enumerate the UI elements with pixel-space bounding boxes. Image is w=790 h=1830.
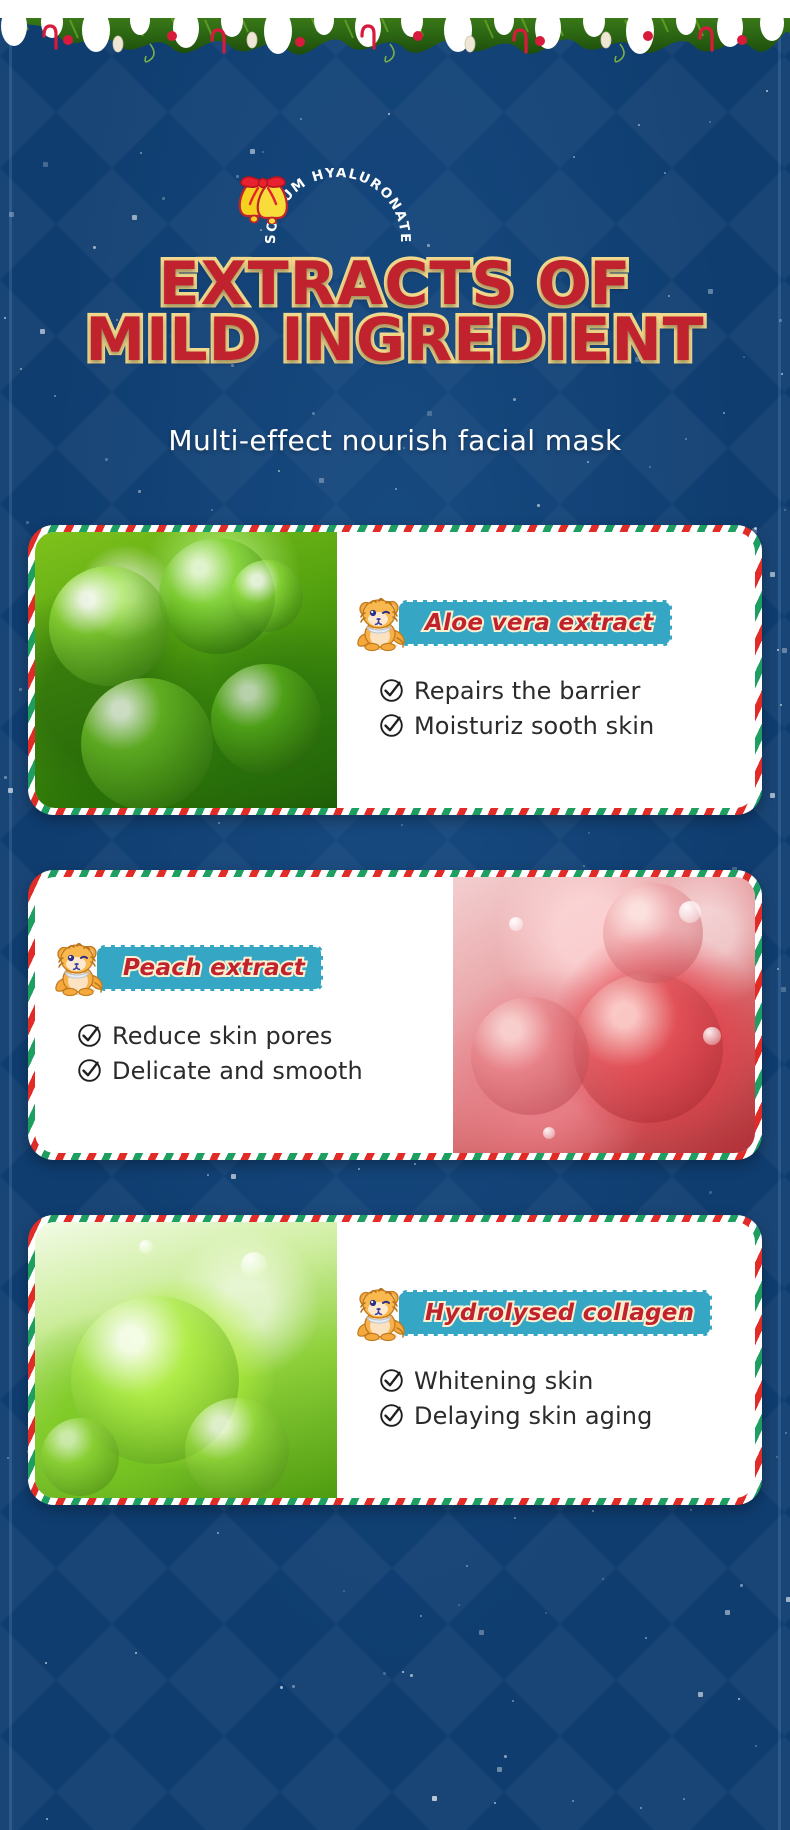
- label-row: Peach extract: [35, 939, 453, 997]
- card-inner: Peach extract Reduce skin pores De: [35, 877, 755, 1153]
- benefit-list: Repairs the barrier Moisturiz sooth skin: [337, 670, 755, 747]
- check-circle-icon: [379, 1403, 404, 1428]
- benefit-text: Delicate and smooth: [112, 1057, 363, 1085]
- benefit-text: Delaying skin aging: [414, 1402, 652, 1430]
- christmas-garland-icon: [0, 0, 790, 86]
- ingredient-label-text: Hydrolysed collagen: [425, 1300, 694, 1326]
- ingredient-label-pill: Aloe vera extract: [399, 600, 672, 646]
- list-item: Whitening skin: [379, 1367, 755, 1395]
- title-line-2: MILD INGREDIENT: [0, 312, 790, 368]
- christmas-bells-icon: [228, 168, 298, 224]
- list-item: Moisturiz sooth skin: [379, 712, 755, 740]
- page-title: EXTRACTS OF MILD INGREDIENT: [0, 256, 790, 368]
- check-circle-icon: [379, 678, 404, 703]
- list-item: Repairs the barrier: [379, 677, 755, 705]
- ingredient-label-text: Peach extract: [123, 955, 305, 981]
- tiger-mascot-icon: [353, 594, 409, 652]
- list-item: Delaying skin aging: [379, 1402, 755, 1430]
- card-inner: Hydrolysed collagen Whitening skin: [35, 1222, 755, 1498]
- green-gel-splash-photo: [35, 1222, 337, 1498]
- list-item: Reduce skin pores: [77, 1022, 453, 1050]
- check-circle-icon: [379, 1368, 404, 1393]
- ingredient-card-peach: Peach extract Reduce skin pores De: [28, 870, 762, 1160]
- benefit-list: Reduce skin pores Delicate and smooth: [35, 1015, 453, 1092]
- title-line-1: EXTRACTS OF: [0, 256, 790, 312]
- label-row: Hydrolysed collagen: [337, 1284, 755, 1342]
- ingredient-label-pill: Peach extract: [97, 945, 323, 991]
- check-circle-icon: [77, 1023, 102, 1048]
- check-circle-icon: [379, 713, 404, 738]
- benefit-text: Moisturiz sooth skin: [414, 712, 654, 740]
- ingredient-label-text: Aloe vera extract: [425, 610, 654, 636]
- label-row: Aloe vera extract: [337, 594, 755, 652]
- brand-logo: SODIUM HYALURONATE: [263, 168, 413, 254]
- ingredient-label-pill: Hydrolysed collagen: [399, 1290, 712, 1336]
- benefit-text: Reduce skin pores: [112, 1022, 333, 1050]
- list-item: Delicate and smooth: [77, 1057, 453, 1085]
- peaches-in-water-photo: [453, 877, 755, 1153]
- card-inner: Aloe vera extract Repairs the barrier: [35, 532, 755, 808]
- check-circle-icon: [77, 1058, 102, 1083]
- card-body: Peach extract Reduce skin pores De: [35, 877, 453, 1153]
- benefit-text: Whitening skin: [414, 1367, 593, 1395]
- benefit-list: Whitening skin Delaying skin aging: [337, 1360, 755, 1437]
- page-subtitle: Multi-effect nourish facial mask: [0, 424, 790, 457]
- ingredient-card-aloe-vera: Aloe vera extract Repairs the barrier: [28, 525, 762, 815]
- tiger-mascot-icon: [51, 939, 107, 997]
- tiger-mascot-icon: [353, 1284, 409, 1342]
- benefit-text: Repairs the barrier: [414, 677, 640, 705]
- card-body: Hydrolysed collagen Whitening skin: [337, 1222, 755, 1498]
- aloe-vera-gel-spheres-photo: [35, 532, 337, 808]
- card-body: Aloe vera extract Repairs the barrier: [337, 532, 755, 808]
- ingredient-card-hydrolysed-collagen: Hydrolysed collagen Whitening skin: [28, 1215, 762, 1505]
